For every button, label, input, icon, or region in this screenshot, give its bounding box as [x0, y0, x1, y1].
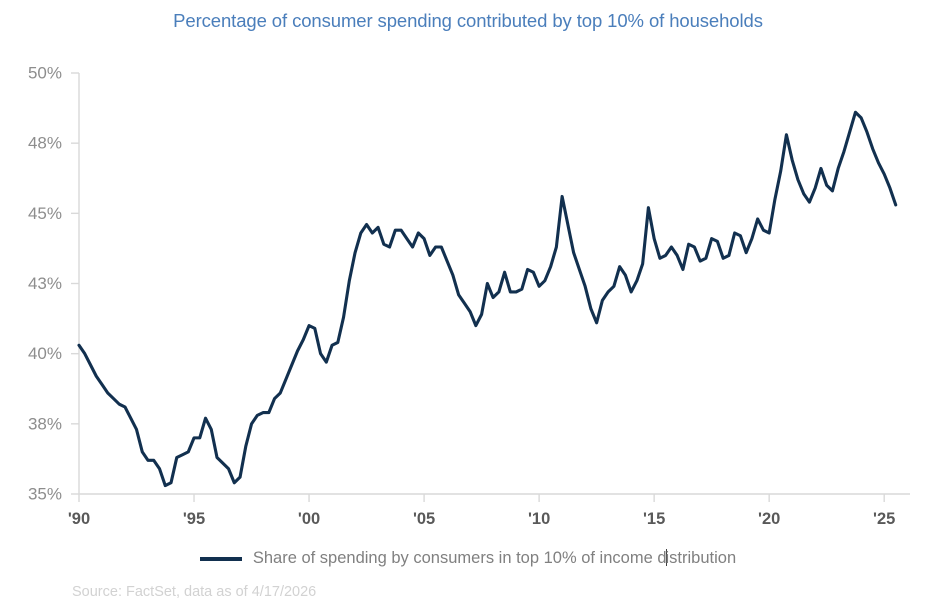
x-axis-tick-label: '25: [873, 510, 895, 528]
y-axis-tick-label: 38%: [28, 414, 62, 433]
y-axis-tick-label: 48%: [28, 134, 62, 153]
x-axis-tick-label: '10: [528, 510, 550, 528]
source-note: Source: FactSet, data as of 4/17/2026: [72, 584, 316, 600]
chart-container: Percentage of consumer spending contribu…: [0, 0, 936, 615]
y-axis-tick-label: 35%: [28, 484, 62, 503]
y-axis-tick-label: 50%: [28, 63, 62, 82]
chart-legend: Share of spending by consumers in top 10…: [0, 549, 936, 568]
legend-label-text-before-caret: Share of spending by consumers in top 10…: [253, 549, 667, 567]
x-axis-tick-label: '95: [183, 510, 205, 528]
x-axis-tick-label: '00: [298, 510, 320, 528]
x-axis-tick-label: '05: [413, 510, 435, 528]
legend-label-text-after-caret: istribution: [666, 549, 737, 567]
y-axis-tick-label: 45%: [28, 204, 62, 223]
x-axis-tick-label: '90: [68, 510, 90, 528]
x-axis-ticks: '90'95'00'05'10'15'20'25: [68, 494, 895, 528]
y-axis-tick-label: 40%: [28, 344, 62, 363]
legend-line-swatch: [200, 557, 242, 561]
x-axis-tick-label: '20: [758, 510, 780, 528]
x-axis-tick-label: '15: [643, 510, 665, 528]
y-axis-tick-label: 43%: [28, 274, 62, 293]
data-series-line: [79, 112, 896, 485]
line-chart-plot: 35%38%40%43%45%48%50% '90'95'00'05'10'15…: [0, 0, 936, 615]
legend-label[interactable]: Share of spending by consumers in top 10…: [253, 549, 736, 568]
y-axis-ticks: 35%38%40%43%45%48%50%: [28, 63, 79, 503]
